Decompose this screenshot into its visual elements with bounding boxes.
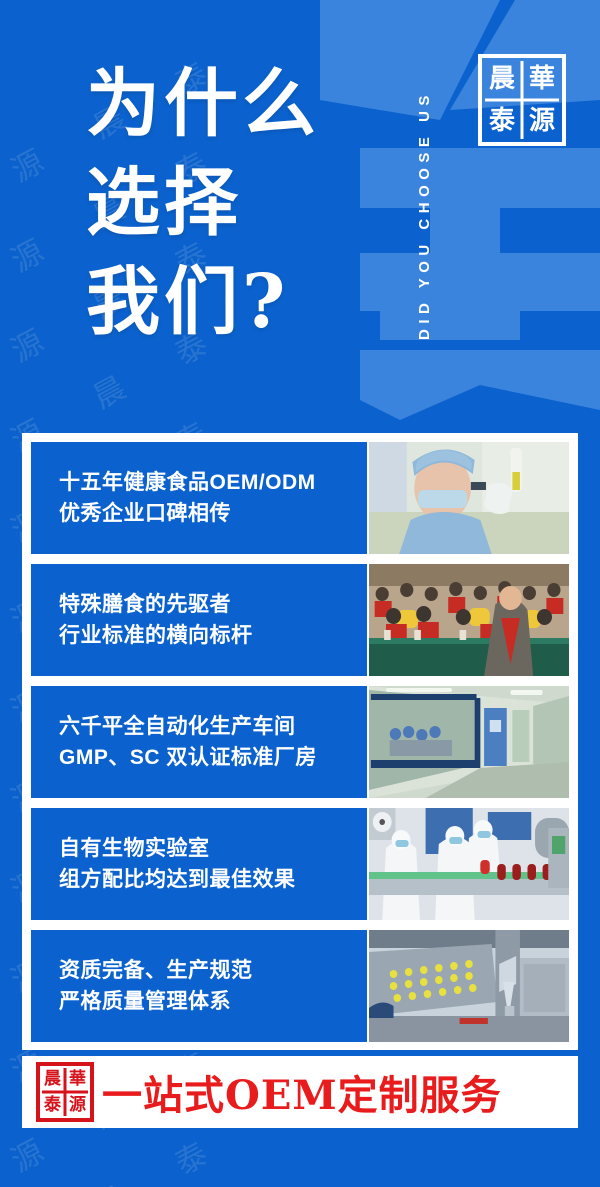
- brand-seal-red-icon: 華 源 晨 泰: [36, 1062, 94, 1122]
- feature-line-2: 行业标准的横向标杆: [59, 620, 367, 651]
- seal-char-1: 華: [65, 1066, 90, 1092]
- photo-blister-packaging-machine: [369, 930, 569, 1042]
- feature-line-1: 自有生物实验室: [59, 833, 367, 864]
- seal-char-4: 泰: [482, 100, 522, 142]
- feature-card-text: 特殊膳食的先驱者 行业标准的横向标杆: [31, 564, 367, 676]
- brand-seal-icon: 華 源 晨 泰: [478, 54, 566, 146]
- feature-line-1: 特殊膳食的先驱者: [59, 589, 367, 620]
- seal-divider-horizontal: [485, 99, 559, 102]
- feature-line-1: 六千平全自动化生产车间: [59, 711, 367, 742]
- seal-char-2: 源: [65, 1092, 90, 1118]
- headline-line-1: 为什么: [86, 55, 320, 154]
- feature-line-2: 组方配比均达到最佳效果: [59, 864, 367, 895]
- seal-char-1: 華: [522, 58, 562, 100]
- feature-line-2: GMP、SC 双认证标准厂房: [59, 742, 367, 773]
- poster-header: 为什么 选择 我们? DID YOU CHOOSE US 華 源 晨 泰: [0, 0, 600, 432]
- feature-card-text: 资质完备、生产规范 严格质量管理体系: [31, 930, 367, 1042]
- feature-card-text: 自有生物实验室 组方配比均达到最佳效果: [31, 808, 367, 920]
- seal-char-4: 泰: [40, 1092, 65, 1118]
- seal-divider-horizontal: [42, 1091, 88, 1094]
- poster: 华 源 晨 泰 华 源 晨 泰 华 源 晨 泰 华 源 晨 泰 华 源 晨 泰 …: [0, 0, 600, 1187]
- feature-line-1: 资质完备、生产规范: [59, 955, 367, 986]
- page-title: 为什么 选择 我们?: [86, 55, 320, 352]
- feature-line-2: 严格质量管理体系: [59, 986, 367, 1017]
- banner-slogan: 一站式OEM定制服务: [102, 1063, 502, 1121]
- vertical-english-subtitle: DID YOU CHOOSE US: [407, 20, 433, 410]
- bottom-service-banner: 華 源 晨 泰 一站式OEM定制服务: [22, 1056, 578, 1128]
- feature-card-text: 十五年健康食品OEM/ODM 优秀企业口碑相传: [31, 442, 367, 554]
- headline-line-3: 我们?: [86, 253, 320, 352]
- feature-card: 资质完备、生产规范 严格质量管理体系: [31, 930, 569, 1042]
- feature-card-text: 六千平全自动化生产车间 GMP、SC 双认证标准厂房: [31, 686, 367, 798]
- photo-cleanroom-corridor: [369, 686, 569, 798]
- seal-char-3: 晨: [40, 1066, 65, 1092]
- feature-card: 十五年健康食品OEM/ODM 优秀企业口碑相传: [31, 442, 569, 554]
- feature-card: 六千平全自动化生产车间 GMP、SC 双认证标准厂房: [31, 686, 569, 798]
- feature-line-1: 十五年健康食品OEM/ODM: [59, 467, 367, 498]
- photo-lab-technician-inspecting-vial: [369, 442, 569, 554]
- feature-line-2: 优秀企业口碑相传: [59, 498, 367, 529]
- feature-card: 特殊膳食的先驱者 行业标准的横向标杆: [31, 564, 569, 676]
- photo-conference-audience: [369, 564, 569, 676]
- photo-workers-production-line: [369, 808, 569, 920]
- feature-card: 自有生物实验室 组方配比均达到最佳效果: [31, 808, 569, 920]
- headline-line-2: 选择: [86, 154, 320, 253]
- seal-char-3: 晨: [482, 58, 522, 100]
- feature-card-panel: 十五年健康食品OEM/ODM 优秀企业口碑相传: [22, 433, 578, 1050]
- seal-char-2: 源: [522, 100, 562, 142]
